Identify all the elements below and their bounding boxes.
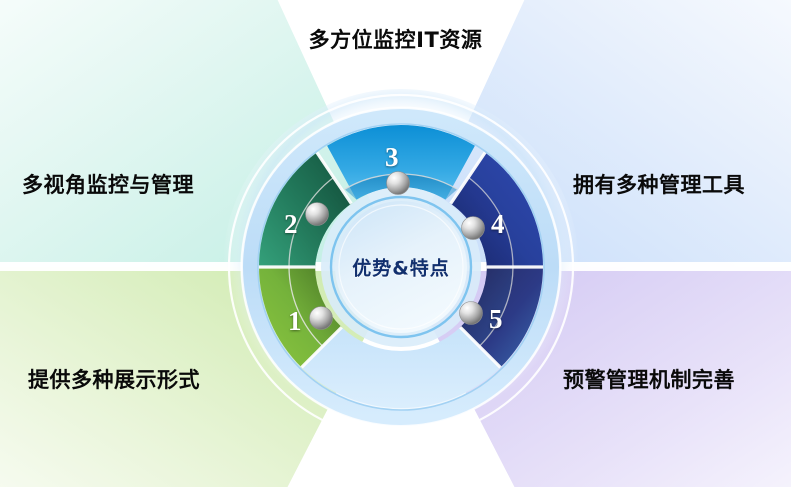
label-top: 多方位监控IT资源 (309, 24, 483, 54)
label-right-top: 拥有多种管理工具 (573, 169, 745, 199)
circular-diagram-svg (0, 0, 791, 487)
label-right-bottom: 预警管理机制完善 (563, 364, 735, 394)
center-label: 优势&特点 (352, 254, 450, 281)
sphere-marker-1[interactable] (310, 307, 333, 330)
label-left-bottom: 提供多种展示形式 (28, 364, 200, 394)
sphere-marker-2[interactable] (306, 203, 329, 226)
sphere-marker-5[interactable] (460, 302, 483, 325)
label-left-top: 多视角监控与管理 (22, 169, 194, 199)
diagram-canvas: 1 2 3 4 5 优势&特点 多方位监控IT资源 多视角监控与管理 拥有多种管… (0, 0, 791, 487)
sphere-marker-3[interactable] (387, 172, 410, 195)
sphere-marker-4[interactable] (462, 217, 485, 240)
